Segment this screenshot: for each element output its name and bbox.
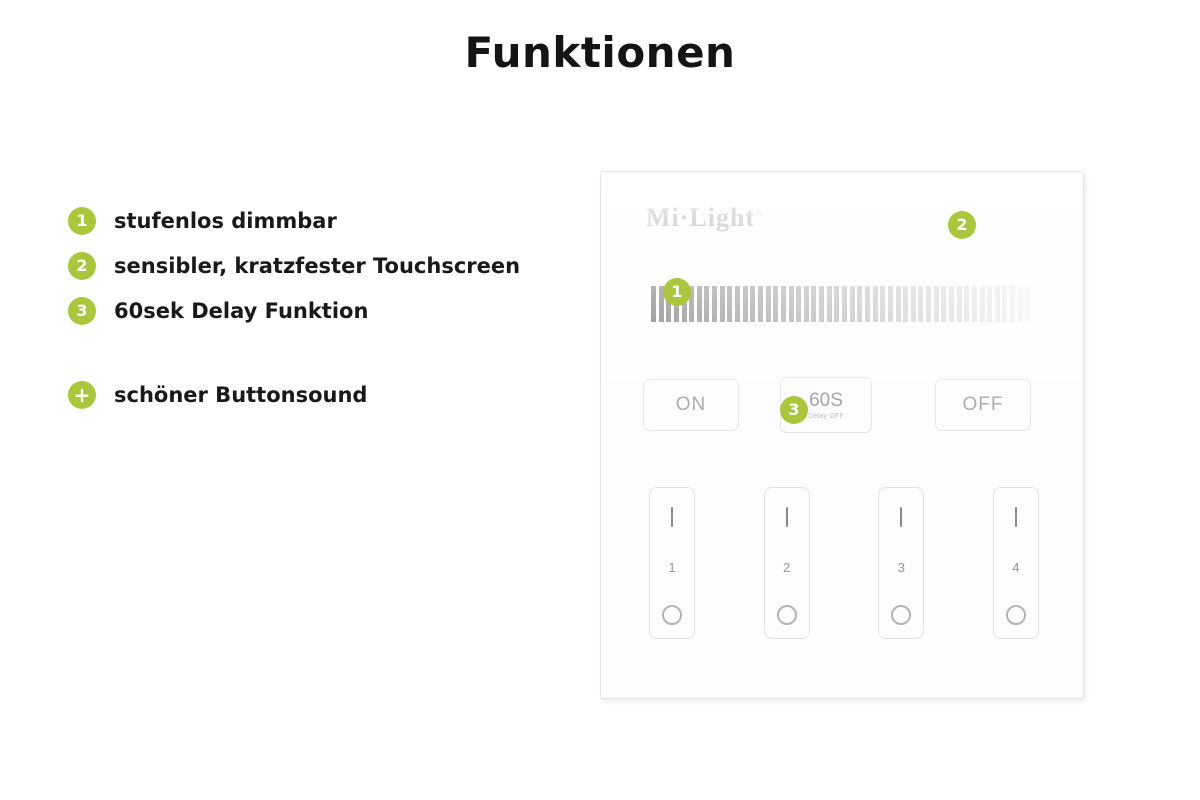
zone-button-3-label: 3 [898,560,905,575]
zone-button-2-label: 2 [783,560,790,575]
dimmer-tick[interactable] [819,286,824,322]
list-item: 2 sensibler, kratzfester Touchscreen [68,243,548,288]
off-button-label: OFF [963,394,1004,416]
power-off-circle-icon[interactable] [891,605,911,625]
callout-badge-3: 3 [780,396,808,424]
callout-badge-2: 2 [948,211,976,239]
dimmer-tick[interactable] [926,286,931,322]
dimmer-tick[interactable] [918,286,923,322]
dimmer-tick[interactable] [880,286,885,322]
dimmer-tick[interactable] [857,286,862,322]
dimmer-tick[interactable] [720,286,725,322]
page-title: Funktionen [0,28,1200,77]
dimmer-tick[interactable] [1010,286,1015,322]
dimmer-tick[interactable] [903,286,908,322]
dimmer-tick[interactable] [980,286,985,322]
dimmer-tick[interactable] [804,286,809,322]
dimmer-tick[interactable] [957,286,962,322]
zone-button-4[interactable]: 4 [993,487,1039,639]
dimmer-tick[interactable] [766,286,771,322]
feature-list: 1 stufenlos dimmbar 2 sensibler, kratzfe… [68,198,548,417]
registered-trademark-icon: ® [755,207,763,219]
feature-badge-1: 1 [68,207,96,235]
list-item: 3 60sek Delay Funktion [68,288,548,333]
dimmer-tick[interactable] [697,286,702,322]
feature-badge-2: 2 [68,252,96,280]
dimmer-tick[interactable] [1002,286,1007,322]
dimmer-tick[interactable] [873,286,878,322]
dimmer-tick[interactable] [651,286,656,322]
dimmer-tick[interactable] [827,286,832,322]
dimmer-tick[interactable] [750,286,755,322]
delay-off-button-sublabel: Delay OFF [808,413,844,420]
dimmer-slider[interactable] [651,286,1031,322]
list-item: 1 stufenlos dimmbar [68,198,548,243]
zone-button-1-label: 1 [668,560,675,575]
feature-label-1: stufenlos dimmbar [114,209,337,233]
feature-label-3: 60sek Delay Funktion [114,299,368,323]
dimmer-tick[interactable] [811,286,816,322]
zone-button-3[interactable]: 3 [878,487,924,639]
dimmer-tick[interactable] [842,286,847,322]
dimmer-tick[interactable] [850,286,855,322]
power-off-circle-icon[interactable] [777,605,797,625]
feature-badge-plus-icon: + [68,381,96,409]
list-item: + schöner Buttonsound [68,372,548,417]
dimmer-tick[interactable] [796,286,801,322]
dimmer-tick[interactable] [972,286,977,322]
dimmer-tick[interactable] [1018,286,1023,322]
dimmer-tick[interactable] [781,286,786,322]
dimmer-tick[interactable] [995,286,1000,322]
dimmer-tick[interactable] [888,286,893,322]
feature-label-2: sensibler, kratzfester Touchscreen [114,254,520,278]
feature-badge-3: 3 [68,297,96,325]
dimmer-tick[interactable] [934,286,939,322]
feature-label-4: schöner Buttonsound [114,383,367,407]
power-on-line-icon[interactable] [1015,507,1017,527]
dimmer-tick[interactable] [789,286,794,322]
dimmer-tick[interactable] [712,286,717,322]
dimmer-tick[interactable] [834,286,839,322]
dimmer-tick[interactable] [941,286,946,322]
dimmer-tick[interactable] [735,286,740,322]
delay-off-button-label: 60S [809,390,843,412]
zone-button-4-label: 4 [1012,560,1019,575]
power-on-line-icon[interactable] [900,507,902,527]
power-on-line-icon[interactable] [786,507,788,527]
dimmer-tick[interactable] [865,286,870,322]
dimmer-tick[interactable] [964,286,969,322]
zone-button-1[interactable]: 1 [649,487,695,639]
dimmer-tick[interactable] [704,286,709,322]
on-button[interactable]: ON [643,379,739,431]
dimmer-tick[interactable] [743,286,748,322]
dimmer-tick[interactable] [773,286,778,322]
mode-button-group: ON 60S Delay OFF OFF [643,379,1033,435]
dimmer-tick[interactable] [911,286,916,322]
power-off-circle-icon[interactable] [662,605,682,625]
zone-button-2[interactable]: 2 [764,487,810,639]
dimmer-tick[interactable] [896,286,901,322]
off-button[interactable]: OFF [935,379,1031,431]
power-off-circle-icon[interactable] [1006,605,1026,625]
power-on-line-icon[interactable] [671,507,673,527]
dimmer-tick[interactable] [987,286,992,322]
device-panel: Mi·Light® 2 1 3 ON 60S Delay OFF OFF 1 2 [600,171,1084,699]
brand-name: Mi·Light [646,203,755,232]
zone-button-group: 1 2 3 4 [649,487,1039,642]
on-button-label: ON [676,394,707,416]
dimmer-tick[interactable] [727,286,732,322]
brand-logo: Mi·Light® [646,203,763,233]
dimmer-tick[interactable] [758,286,763,322]
dimmer-tick[interactable] [1025,286,1030,322]
dimmer-tick[interactable] [949,286,954,322]
callout-badge-1: 1 [663,278,691,306]
